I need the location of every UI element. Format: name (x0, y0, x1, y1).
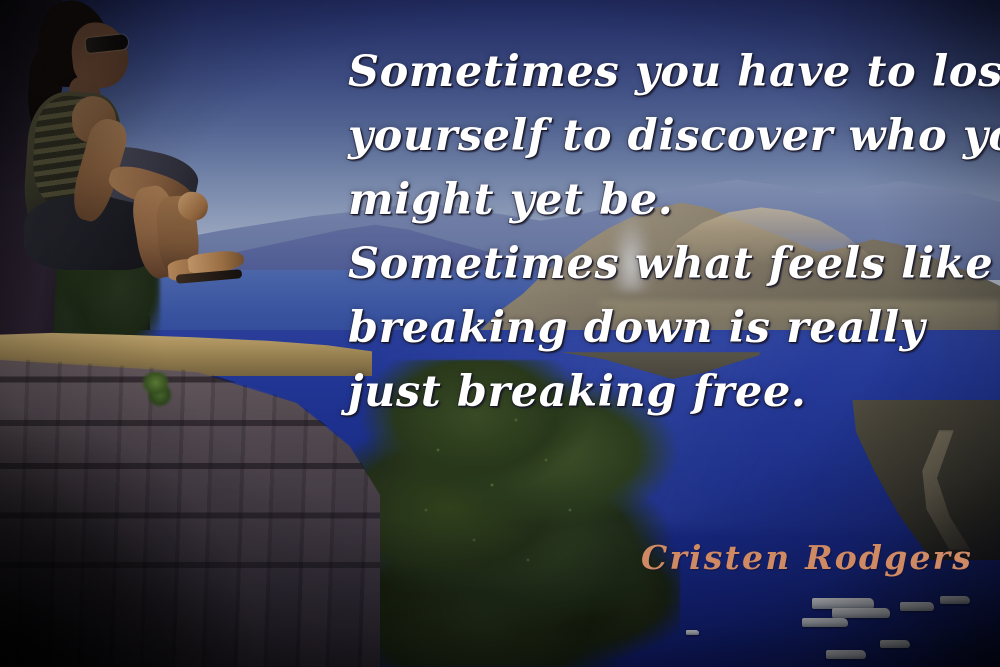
quote-text-block: Sometimes you have to lose yourself to d… (348, 40, 994, 424)
quote-line-6: just breaking free. (348, 360, 994, 424)
quote-line-4: Sometimes what feels like (348, 232, 994, 296)
quote-poster: Sometimes you have to lose yourself to d… (0, 0, 1000, 667)
quote-line-1: Sometimes you have to lose (348, 40, 994, 104)
quote-line-2: yourself to discover who you (348, 104, 994, 168)
quote-attribution: Cristen Rodgers (641, 538, 973, 577)
quote-line-5: breaking down is really (348, 296, 994, 360)
quote-line-3: might yet be. (348, 168, 994, 232)
